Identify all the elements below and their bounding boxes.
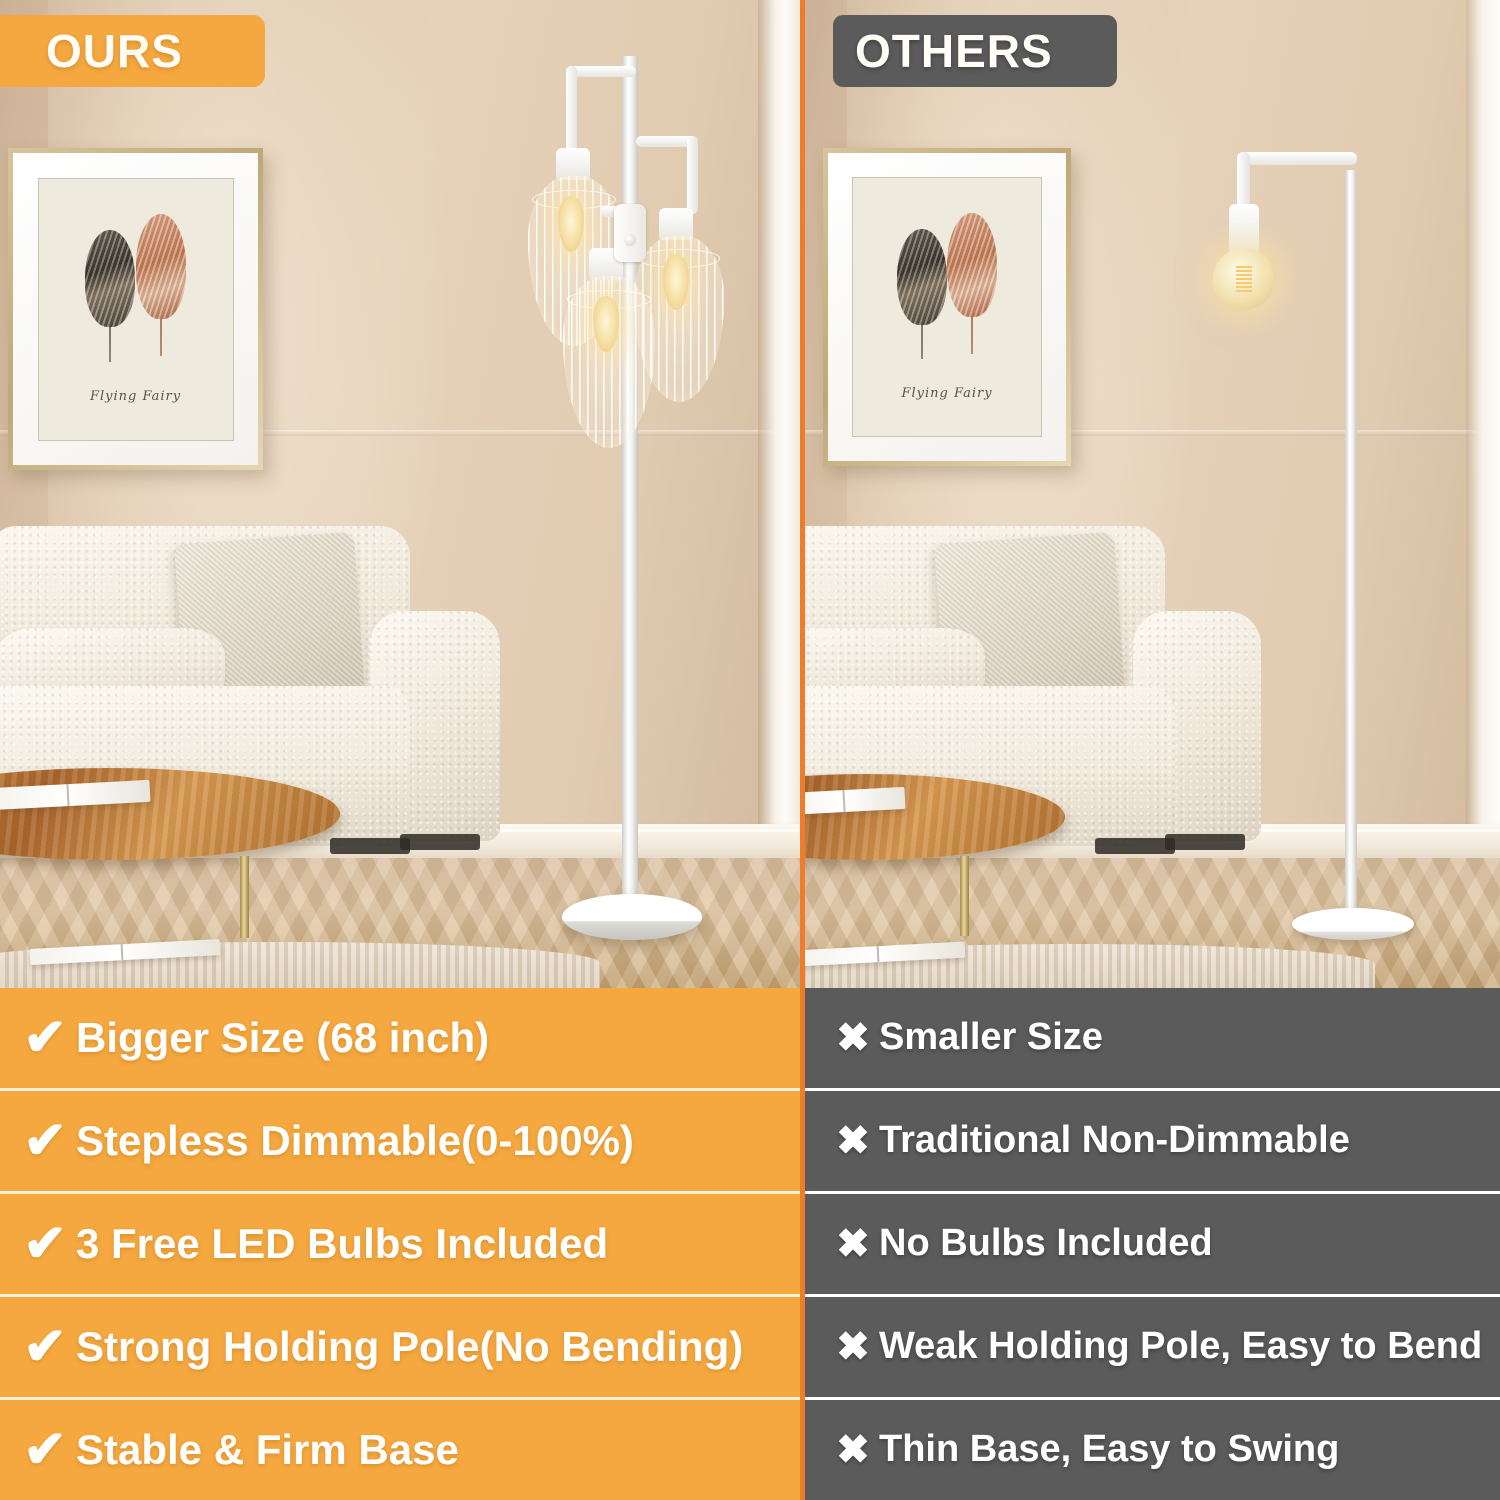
feature-row: ✔ Strong Holding Pole(No Bending) — [0, 1297, 800, 1400]
feather-stripes — [85, 230, 136, 327]
check-icon: ✔ — [14, 1218, 76, 1270]
feather-dark — [85, 230, 136, 362]
dimmer-knob-dot — [624, 234, 636, 246]
lamp-arch-drop — [1237, 152, 1250, 212]
badge-ours-label: OURS — [46, 24, 183, 78]
sofa-foot — [1095, 838, 1175, 854]
art-canvas: Flying Fairy — [852, 177, 1042, 437]
feather-vane — [897, 229, 947, 325]
dimmer-knob[interactable] — [614, 204, 646, 262]
badge-others: OTHERS — [833, 15, 1117, 87]
comparison-infographic: Flying Fairy — [0, 0, 1500, 1500]
feature-label: Strong Holding Pole(No Bending) — [76, 1324, 743, 1370]
feather-rose — [136, 214, 187, 356]
feature-row: ✔ Stepless Dimmable(0-100%) — [0, 1091, 800, 1194]
sofa-foot — [1165, 834, 1245, 850]
feature-label: Stepless Dimmable(0-100%) — [76, 1118, 634, 1164]
table-leg — [240, 856, 249, 938]
check-icon: ✔ — [14, 1424, 76, 1476]
lamp-base-ours — [562, 894, 702, 940]
cross-icon: ✖ — [827, 1018, 879, 1058]
bulb-filament — [1236, 266, 1252, 294]
feather-stripes — [136, 214, 187, 319]
feature-label: Smaller Size — [879, 1017, 1103, 1059]
photo-ours: Flying Fairy — [0, 0, 802, 988]
feature-row: ✖ Thin Base, Easy to Swing — [805, 1400, 1500, 1500]
lamp-pole-others — [1345, 170, 1357, 910]
feature-label: 3 Free LED Bulbs Included — [76, 1221, 608, 1267]
lamp-drop-upper — [566, 66, 577, 154]
feature-label: Bigger Size (68 inch) — [76, 1015, 489, 1061]
art-mat: Flying Fairy — [13, 153, 258, 465]
lamp-base-others — [1292, 908, 1414, 940]
cross-icon: ✖ — [827, 1224, 879, 1264]
badge-ours: OURS — [0, 15, 265, 87]
feature-row: ✖ Weak Holding Pole, Easy to Bend — [805, 1297, 1500, 1400]
feather-dark — [897, 229, 947, 359]
sofa-foot — [330, 838, 410, 854]
product-photo-area: Flying Fairy — [0, 0, 1500, 988]
artwork-caption: Flying Fairy — [852, 386, 1042, 401]
check-icon: ✔ — [14, 1321, 76, 1373]
feature-row: ✔ 3 Free LED Bulbs Included — [0, 1194, 800, 1297]
feather-stripes — [897, 229, 947, 325]
feature-row: ✔ Bigger Size (68 inch) — [0, 988, 800, 1091]
feather-vane — [136, 214, 187, 319]
feature-row: ✖ Traditional Non-Dimmable — [805, 1091, 1500, 1194]
feather-vane — [947, 213, 997, 317]
badge-others-label: OTHERS — [855, 24, 1053, 78]
feature-label: Traditional Non-Dimmable — [879, 1120, 1350, 1162]
lamp-arch-arm — [1237, 152, 1357, 165]
feather-vane — [85, 230, 136, 327]
feature-label: Thin Base, Easy to Swing — [879, 1429, 1339, 1471]
lamp-drop-right — [687, 136, 698, 214]
cross-icon: ✖ — [827, 1121, 879, 1161]
feature-row: ✖ No Bulbs Included — [805, 1194, 1500, 1297]
sofa-foot — [400, 834, 480, 850]
feature-row: ✔ Stable & Firm Base — [0, 1400, 800, 1500]
framed-artwork-ours: Flying Fairy — [8, 148, 263, 470]
cross-icon: ✖ — [827, 1327, 879, 1367]
check-icon: ✔ — [14, 1115, 76, 1167]
feather-rose — [947, 213, 997, 354]
feature-comparison-table: ✔ Bigger Size (68 inch) ✔ Stepless Dimma… — [0, 988, 1500, 1500]
feature-column-others: ✖ Smaller Size ✖ Traditional Non-Dimmabl… — [805, 988, 1500, 1500]
check-icon: ✔ — [14, 1012, 76, 1064]
framed-artwork-others: Flying Fairy — [823, 148, 1071, 466]
feather-stripes — [947, 213, 997, 317]
feature-row: ✖ Smaller Size — [805, 988, 1500, 1091]
art-canvas: Flying Fairy — [38, 178, 234, 441]
feature-label: Stable & Firm Base — [76, 1427, 459, 1473]
lamp-socket-others — [1229, 204, 1259, 252]
artwork-caption: Flying Fairy — [38, 389, 234, 404]
photo-others: Flying Fairy — [805, 0, 1500, 988]
bulb-globe — [1213, 248, 1275, 310]
feature-label: Weak Holding Pole, Easy to Bend — [879, 1326, 1482, 1368]
panel-divider — [800, 0, 805, 988]
lamp-pole-ours — [622, 56, 638, 916]
art-mat: Flying Fairy — [828, 153, 1066, 461]
table-leg — [960, 856, 969, 936]
cross-icon: ✖ — [827, 1430, 879, 1470]
feature-column-ours: ✔ Bigger Size (68 inch) ✔ Stepless Dimma… — [0, 988, 800, 1500]
feature-label: No Bulbs Included — [879, 1223, 1213, 1265]
